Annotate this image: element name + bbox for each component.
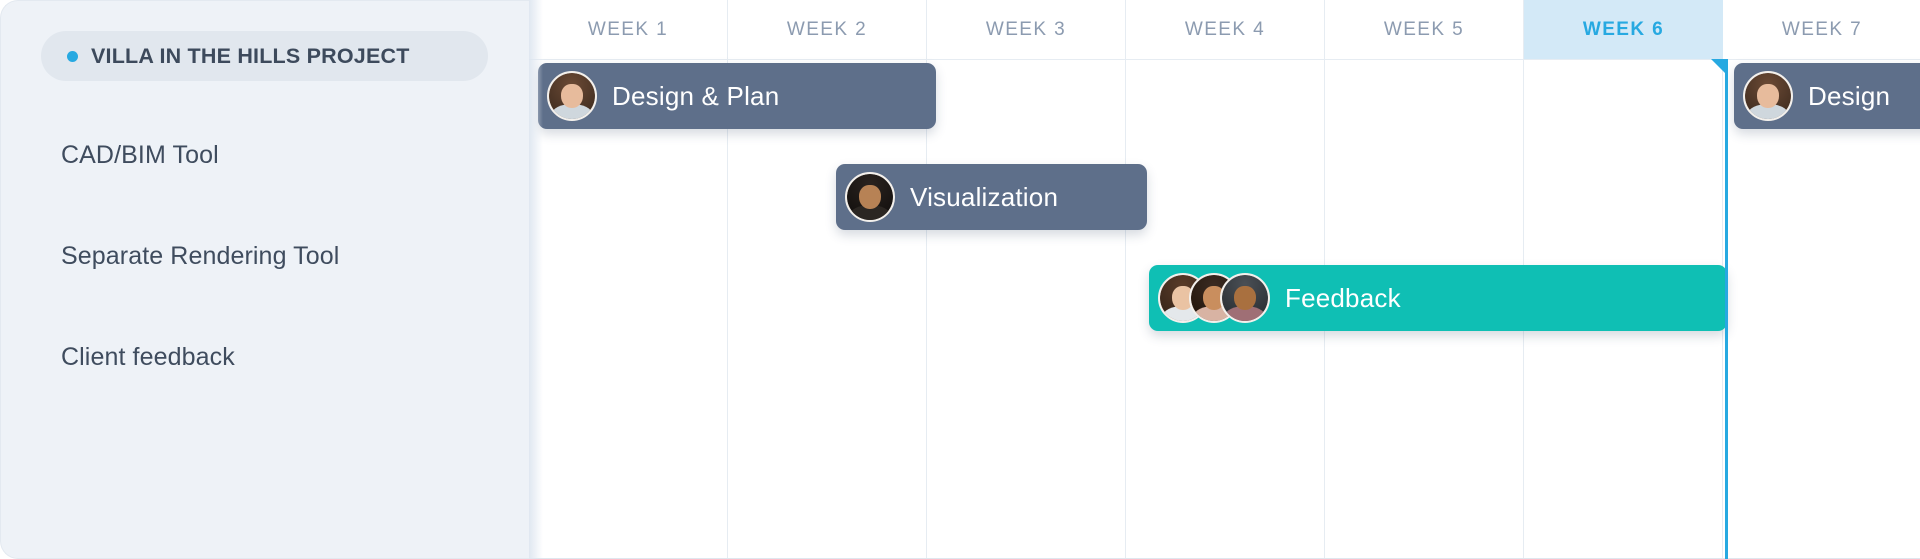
column-header-week-3[interactable]: WEEK 3 — [927, 0, 1126, 59]
grid-column-week-3 — [927, 59, 1126, 559]
today-marker-flag-icon — [1711, 59, 1728, 76]
timeline-panel: WEEK 1 WEEK 2 WEEK 3 WEEK 4 WEEK 5 WEEK … — [529, 0, 1920, 559]
column-header-week-2[interactable]: WEEK 2 — [728, 0, 927, 59]
gantt-chart: VILLA IN THE HILLS PROJECT CAD/BIM Tool … — [0, 0, 1920, 559]
task-bar-label: Visualization — [910, 182, 1058, 213]
task-bar-visualization[interactable]: Visualization — [836, 164, 1147, 230]
woman-curly-hair-avatar — [547, 71, 597, 121]
column-header-week-4[interactable]: WEEK 4 — [1126, 0, 1325, 59]
sidebar-item-project[interactable]: VILLA IN THE HILLS PROJECT — [41, 31, 488, 81]
task-bar-label: Design — [1808, 81, 1890, 112]
man-beard-avatar — [845, 172, 895, 222]
woman-curly-hair-avatar — [1743, 71, 1793, 121]
task-bar-design-plan[interactable]: Design & Plan — [538, 63, 936, 129]
column-header-week-5[interactable]: WEEK 5 — [1325, 0, 1524, 59]
column-header-week-1[interactable]: WEEK 1 — [529, 0, 728, 59]
timeline-header: WEEK 1 WEEK 2 WEEK 3 WEEK 4 WEEK 5 WEEK … — [529, 0, 1920, 59]
avatar-group — [1158, 273, 1270, 323]
column-header-week-7[interactable]: WEEK 7 — [1723, 0, 1920, 59]
grid-column-week-7 — [1723, 59, 1920, 559]
sidebar-item-client-feedback[interactable]: Client feedback — [61, 343, 235, 372]
sidebar-item-cad-bim-tool[interactable]: CAD/BIM Tool — [61, 141, 219, 170]
task-bar-label: Feedback — [1285, 283, 1401, 314]
grid-column-week-2 — [728, 59, 927, 559]
man-smiling-avatar — [1220, 273, 1270, 323]
sidebar-item-separate-rendering-tool[interactable]: Separate Rendering Tool — [61, 242, 339, 271]
task-bar-label: Design & Plan — [612, 81, 779, 112]
sidebar: VILLA IN THE HILLS PROJECT CAD/BIM Tool … — [0, 0, 529, 559]
task-bar-design-next[interactable]: Design — [1734, 63, 1920, 129]
column-header-week-6[interactable]: WEEK 6 — [1524, 0, 1723, 59]
task-bar-feedback[interactable]: Feedback — [1149, 265, 1727, 331]
bullet-dot-icon — [67, 51, 78, 62]
project-title: VILLA IN THE HILLS PROJECT — [91, 44, 410, 69]
grid-column-week-1 — [529, 59, 728, 559]
today-marker-line — [1725, 59, 1728, 559]
